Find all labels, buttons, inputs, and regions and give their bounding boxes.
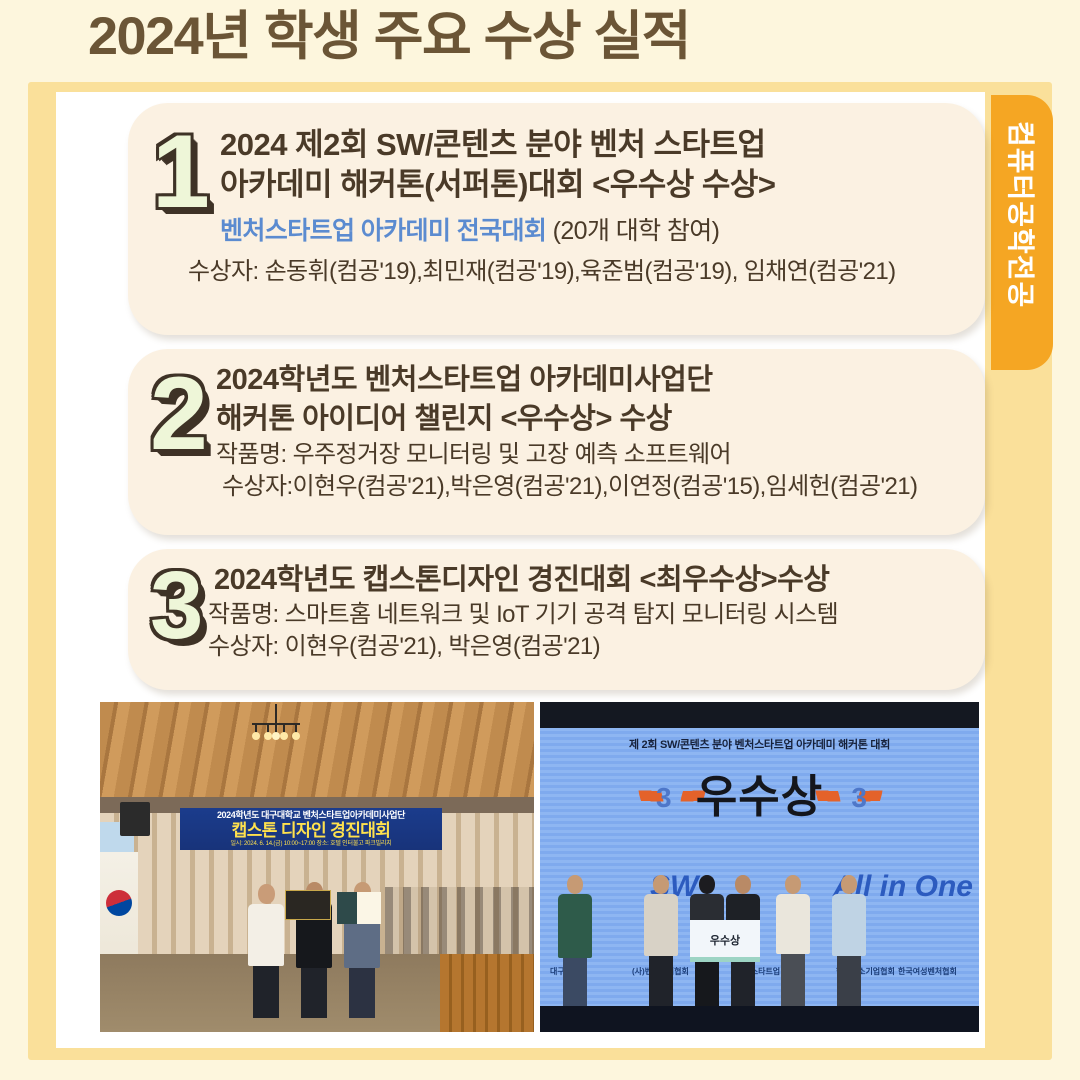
photo-person-student-female xyxy=(832,875,866,1010)
photo-speaker xyxy=(120,802,150,836)
photo-certificate xyxy=(337,892,381,924)
laurel-rank-right: 3 xyxy=(851,782,867,814)
banner-line-3: 일시: 2024. 6. 14.(금) 10:00~17:00 장소: 호텔 인… xyxy=(180,840,442,848)
photo-person-host xyxy=(558,875,592,1010)
award-winners-1: 수상자: 손동휘(컴공'19),최민재(컴공'19),육준범(컴공'19), 임… xyxy=(188,255,971,289)
award-organizer-1: 벤처스타트업 아카데미 전국대회 (20개 대학 참여) xyxy=(220,211,971,251)
korean-flag-icon xyxy=(100,852,138,962)
photo-person-student xyxy=(644,875,678,1010)
department-label: 컴퓨터공학전공 xyxy=(991,95,1053,370)
banner-line-1: 2024학년도 대구대학교 벤처스타트업아카데미사업단 xyxy=(180,810,442,821)
award-winners-3: 수상자: 이현우(컴공'21), 박은영(컴공'21) xyxy=(208,631,975,663)
photo-person-student-female xyxy=(248,884,284,1018)
photo-gallery: 2024학년도 대구대학교 벤처스타트업아카데미사업단 캡스톤 디자인 경진대회… xyxy=(100,702,979,1032)
photo-award-placard: 우수상 xyxy=(690,920,760,962)
screen-award-text: 우수상 xyxy=(540,772,979,822)
chandelier-icon xyxy=(240,704,312,756)
award-card-1: 1 2024 제2회 SW/콘텐츠 분야 벤처 스타트업 아카데미 해커톤(서퍼… xyxy=(128,103,985,335)
sponsor-logo: 한국여성벤처협회 xyxy=(898,966,957,977)
photo-wood-floor xyxy=(440,954,534,1032)
flag-taeguk xyxy=(106,890,132,916)
award-number-2: 2 xyxy=(150,362,208,466)
photo-prize-plaque xyxy=(285,890,331,920)
award-work-3: 작품명: 스마트홈 네트워크 및 IoT 기기 공격 탐지 모니터링 시스템 xyxy=(208,599,975,631)
award-organizer-rest: (20개 대학 참여) xyxy=(546,217,719,245)
department-side-tab: 컴퓨터공학전공 xyxy=(991,95,1053,370)
award-number-3: 3 xyxy=(150,558,203,654)
award-work-2: 작품명: 우주정거장 모니터링 및 고장 예측 소프트웨어 xyxy=(216,439,975,471)
photo-person-student xyxy=(776,875,810,1010)
award-heading-line2: 해커톤 아이디어 챌린지 <우수상> 수상 xyxy=(216,400,975,439)
award-card-2: 2 2024학년도 벤처스타트업 아카데미사업단 해커톤 아이디어 챌린지 <우… xyxy=(128,349,985,535)
award-body-3: 2024학년도 캡스톤디자인 경진대회 <최우수상>수상 작품명: 스마트홈 네… xyxy=(214,561,975,663)
award-body-1: 2024 제2회 SW/콘텐츠 분야 벤처 스타트업 아카데미 해커톤(서퍼톤)… xyxy=(220,125,971,289)
page-title: 2024년 학생 주요 수상 실적 xyxy=(88,2,690,72)
banner-line-2: 캡스톤 디자인 경진대회 xyxy=(180,821,442,840)
photo-ceiling xyxy=(100,702,534,807)
award-organizer-highlight: 벤처스타트업 아카데미 전국대회 xyxy=(220,217,546,245)
award-card-3: 3 2024학년도 캡스톤디자인 경진대회 <최우수상>수상 작품명: 스마트홈… xyxy=(128,549,985,690)
award-body-2: 2024학년도 벤처스타트업 아카데미사업단 해커톤 아이디어 챌린지 <우수상… xyxy=(216,361,975,503)
award-winners-2: 수상자:이현우(컴공'21),박은영(컴공'21),이연정(컴공'15),임세헌… xyxy=(222,471,975,503)
award-heading-line1: 2024학년도 벤처스타트업 아카데미사업단 xyxy=(216,361,975,400)
award-heading-line1: 2024학년도 캡스톤디자인 경진대회 <최우수상>수상 xyxy=(214,561,975,599)
screen-title: 제 2회 SW/콘텐츠 분야 벤처스타트업 아카데미 해커톤 대회 xyxy=(540,736,979,752)
photo-stage-front xyxy=(540,1006,979,1032)
photo-capstone-ceremony: 2024학년도 대구대학교 벤처스타트업아카데미사업단 캡스톤 디자인 경진대회… xyxy=(100,702,534,1032)
award-heading-line1: 2024 제2회 SW/콘텐츠 분야 벤처 스타트업 xyxy=(220,125,971,165)
photo-background-crowd xyxy=(385,887,534,957)
award-number-1: 1 xyxy=(152,120,210,224)
photo-hackathon-award: 제 2회 SW/콘텐츠 분야 벤처스타트업 아카데미 해커톤 대회 3 우수상 … xyxy=(540,702,979,1032)
award-heading-line2: 아카데미 해커톤(서퍼톤)대회 <우수상 수상> xyxy=(220,165,971,205)
photo-event-banner: 2024학년도 대구대학교 벤처스타트업아카데미사업단 캡스톤 디자인 경진대회… xyxy=(180,808,442,850)
